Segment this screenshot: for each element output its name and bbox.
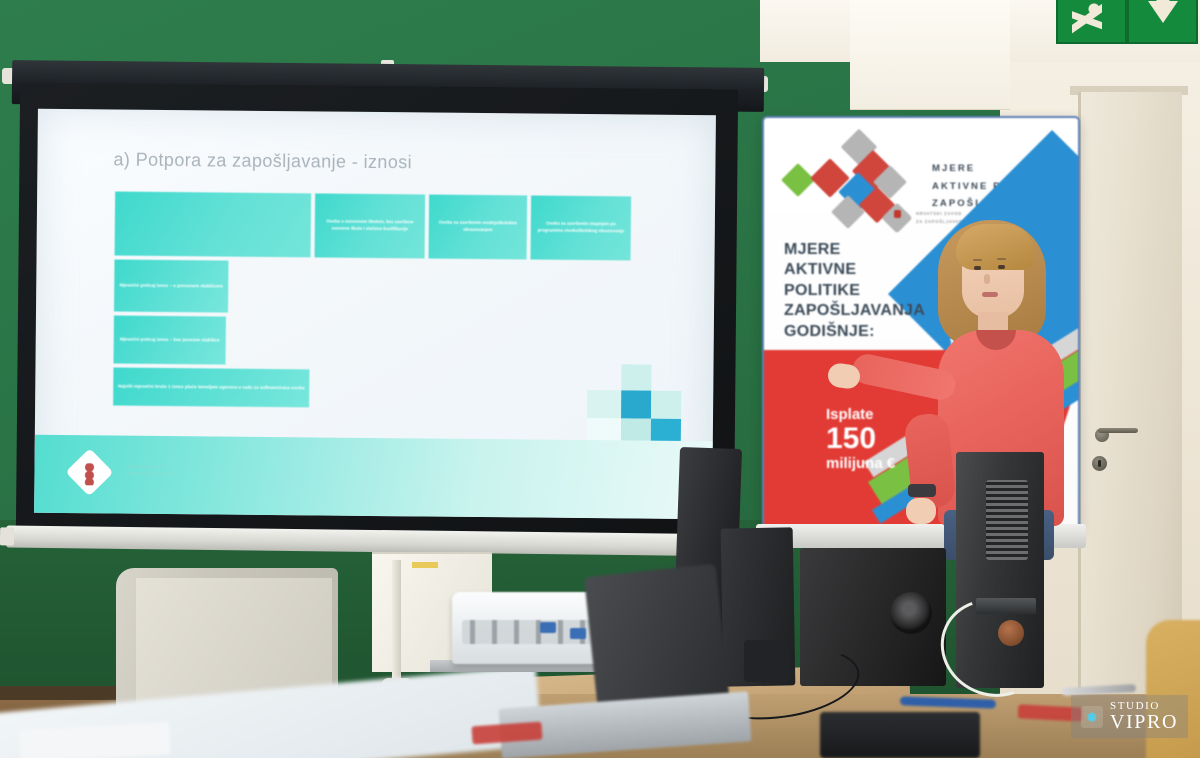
- pc-tower-grill: [986, 480, 1028, 560]
- aperture-icon: ◉: [1081, 706, 1103, 728]
- watermark-text: STUDIO VIPRO: [1110, 701, 1178, 732]
- keyboard[interactable]: [820, 712, 980, 758]
- presenter-eyebrow: [973, 259, 982, 261]
- presenter-wristwatch: [908, 484, 936, 497]
- photo-scene: a) Potpora za zapošljavanje - iznosi Oso…: [0, 0, 1200, 758]
- table-row-label: Mjesečni poticaj iznos – bez porezne ola…: [114, 315, 226, 364]
- mosaic-square: [587, 390, 621, 418]
- slide: a) Potpora za zapošljavanje - iznosi Oso…: [34, 109, 716, 519]
- slide-footer: HRVATSKI ZAVOD ZA ZAPOŠLJAVANJE: [34, 435, 713, 520]
- door-handle[interactable]: [1098, 428, 1138, 433]
- table-row-label: Mjesečni poticaj iznos – s poreznom olak…: [114, 259, 228, 312]
- slide-footer-org: HRVATSKI ZAVOD ZA ZAPOŠLJAVANJE: [126, 464, 175, 478]
- mosaic-square: [621, 390, 651, 418]
- door[interactable]: [1078, 92, 1182, 712]
- table-row-label: Najviši mjesečni bruto 1 iznos plaće tem…: [113, 367, 309, 407]
- table-header-cell: Osoba sa završenim stupnjem po programim…: [531, 195, 632, 260]
- projector-vga-port: [570, 628, 586, 639]
- diamond: [781, 163, 815, 197]
- projector-vga-port: [540, 622, 556, 633]
- presenter-hair-front: [956, 224, 1034, 270]
- table-header-row: Osoba s osnovnom školom, bez završene os…: [115, 192, 636, 261]
- emergency-exit-sign: [1056, 0, 1198, 44]
- presenter-nose: [984, 274, 990, 284]
- slide-title: a) Potpora za zapošljavanje - iznosi: [113, 149, 685, 175]
- presenter-eye: [974, 266, 981, 270]
- hzz-logo-icon: [70, 453, 110, 493]
- studio-watermark: ◉ STUDIO VIPRO: [1071, 695, 1188, 738]
- table-header-cell: Osoba s osnovnom školom, bez završene os…: [315, 193, 426, 258]
- running-man-icon: [1056, 0, 1127, 44]
- wall-panel: [850, 0, 1010, 110]
- mosaic-square: [621, 364, 651, 390]
- watermark-line-2: VIPRO: [1110, 712, 1178, 732]
- org-line-2: ZA ZAPOŠLJAVANJE: [126, 470, 174, 477]
- speaker-cone-icon: [890, 592, 932, 634]
- slide-table: Osoba s osnovnom školom, bez završene os…: [113, 192, 635, 411]
- presenter-eyebrow: [997, 258, 1006, 260]
- projector-ports: [462, 620, 610, 644]
- table-header-cell: Osoba sa završenim srednjoškolskim obraz…: [429, 195, 528, 260]
- down-arrow-icon: [1127, 0, 1198, 44]
- mosaic-square: [651, 391, 681, 419]
- door-keyhole-icon: [1092, 456, 1107, 471]
- table-corner-cell: [115, 192, 312, 258]
- projection-screen: a) Potpora za zapošljavanje - iznosi Oso…: [34, 109, 716, 519]
- presenter-mouth: [982, 292, 998, 297]
- presenter-hand-right: [906, 498, 936, 524]
- presenter-eye: [998, 265, 1005, 269]
